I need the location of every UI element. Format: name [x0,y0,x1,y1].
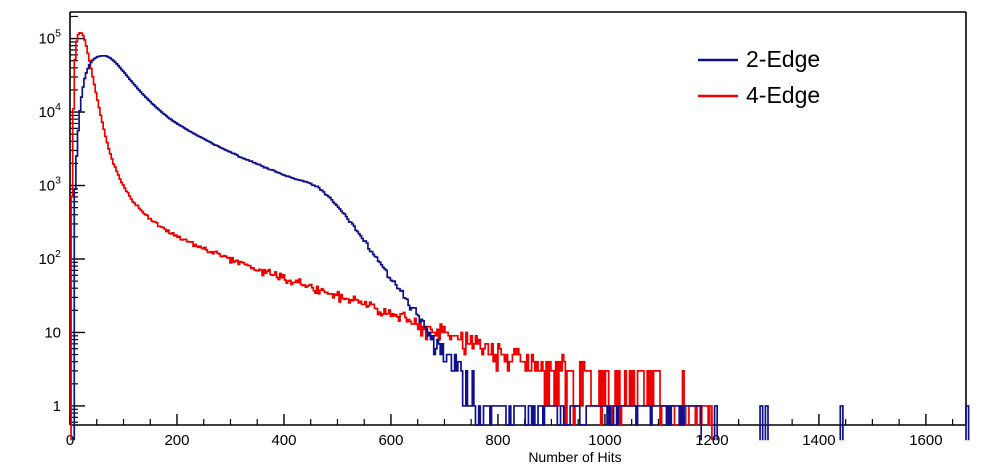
x-tick-label: 1000 [588,432,621,449]
x-tick-label: 1600 [909,432,942,449]
x-tick-label: 600 [378,432,403,449]
x-tick-label: 200 [164,432,189,449]
histogram-plot: 110102103104105 020040060080010001200140… [0,0,996,472]
y-tick-label: 1 [53,398,61,415]
x-tick-label: 1400 [802,432,835,449]
y-tick-label: 10 [44,324,61,341]
x-tick-label: 800 [485,432,510,449]
x-tick-label: 400 [271,432,296,449]
x-tick-label: 0 [66,432,74,449]
chart-canvas: 110102103104105 020040060080010001200140… [0,0,996,472]
legend-label-2-edge: 2-Edge [746,46,820,72]
x-axis-title: Number of Hits [528,449,621,465]
legend-label-4-edge: 4-Edge [746,82,820,108]
plot-background [0,0,996,472]
